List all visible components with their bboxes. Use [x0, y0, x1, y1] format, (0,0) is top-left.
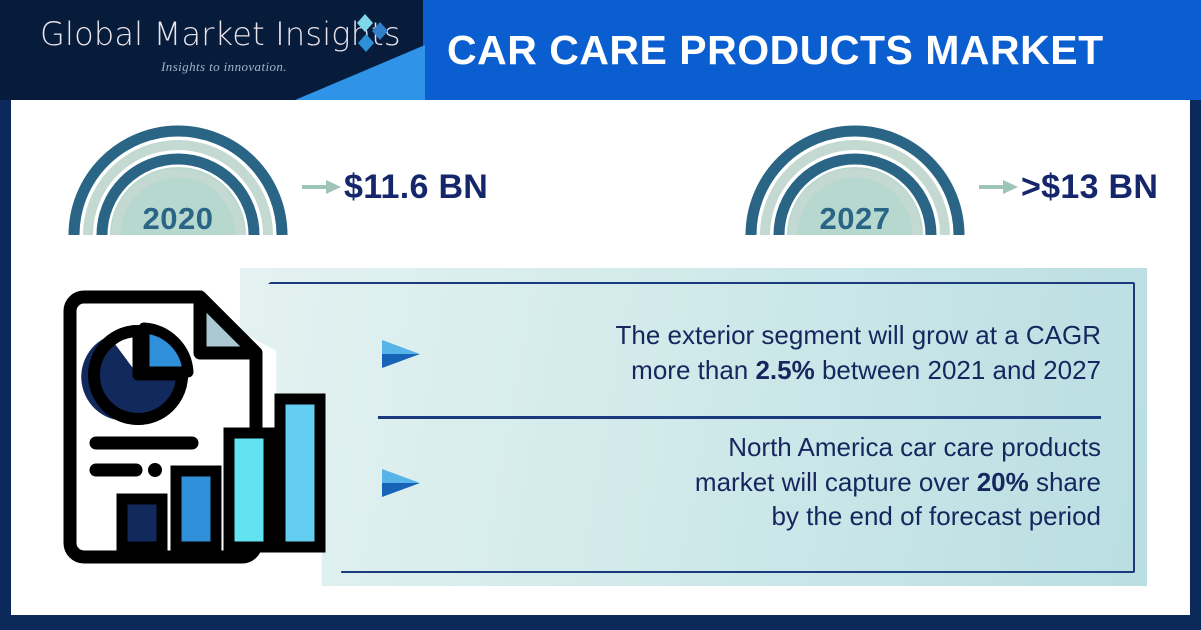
brand-tagline: Insights to innovation.: [40, 59, 380, 75]
bullet-1-line-2-pre: more than: [631, 355, 755, 385]
bullet-2-line-2-pre: market will capture over: [695, 467, 977, 497]
bullet-1-cagr-value: 2.5%: [755, 355, 814, 385]
gauge-block-2027: 2027 >$13 BN: [735, 110, 1158, 245]
page-title: CAR CARE PRODUCTS MARKET: [447, 0, 1104, 100]
brand-logo: Global Market Insights Insights to innov…: [40, 18, 380, 75]
frame-border-left: [0, 100, 11, 630]
arrow-right-icon: [300, 177, 342, 197]
brand-name: Global Market Insights: [40, 18, 380, 50]
header-bar: Global Market Insights Insights to innov…: [0, 0, 1201, 100]
bullet-1-line-1: The exterior segment will grow at a CAGR: [615, 320, 1101, 350]
bullet-2-line-2-post: share: [1029, 467, 1101, 497]
gauge-block-2020: 2020 $11.6 BN: [58, 110, 488, 245]
bullet-2-line-1: North America car care products: [728, 432, 1101, 462]
semicircle-gauge-icon: 2020: [58, 117, 298, 245]
gauge-value-2027: >$13 BN: [1021, 168, 1158, 207]
report-document-chart-icon: [52, 281, 342, 571]
chevron-bullet-icon: [378, 466, 424, 500]
bullet-2-share-value: 20%: [977, 467, 1029, 497]
frame-border-bottom: [0, 615, 1201, 630]
bullet-divider: [378, 416, 1101, 419]
bullet-item-2: North America car care products market w…: [378, 425, 1113, 539]
gauge-year-label: 2020: [58, 201, 298, 237]
bullet-text-1: The exterior segment will grow at a CAGR…: [440, 318, 1113, 387]
diamonds-icon: [353, 12, 395, 60]
bullet-list: The exterior segment will grow at a CAGR…: [378, 296, 1113, 562]
chevron-bullet-icon: [378, 337, 424, 371]
bullet-1-line-2-post: between 2021 and 2027: [815, 355, 1101, 385]
bullet-2-line-3: by the end of forecast period: [771, 501, 1101, 531]
infographic-root: Global Market Insights Insights to innov…: [0, 0, 1201, 630]
gauge-value-2020: $11.6 BN: [344, 168, 488, 207]
frame-border-right: [1190, 100, 1201, 630]
bullet-item-1: The exterior segment will grow at a CAGR…: [378, 296, 1113, 410]
arrow-right-icon: [977, 177, 1019, 197]
gauge-year-label: 2027: [735, 201, 975, 237]
semicircle-gauge-icon: 2027: [735, 117, 975, 245]
bullet-text-2: North America car care products market w…: [440, 430, 1113, 534]
